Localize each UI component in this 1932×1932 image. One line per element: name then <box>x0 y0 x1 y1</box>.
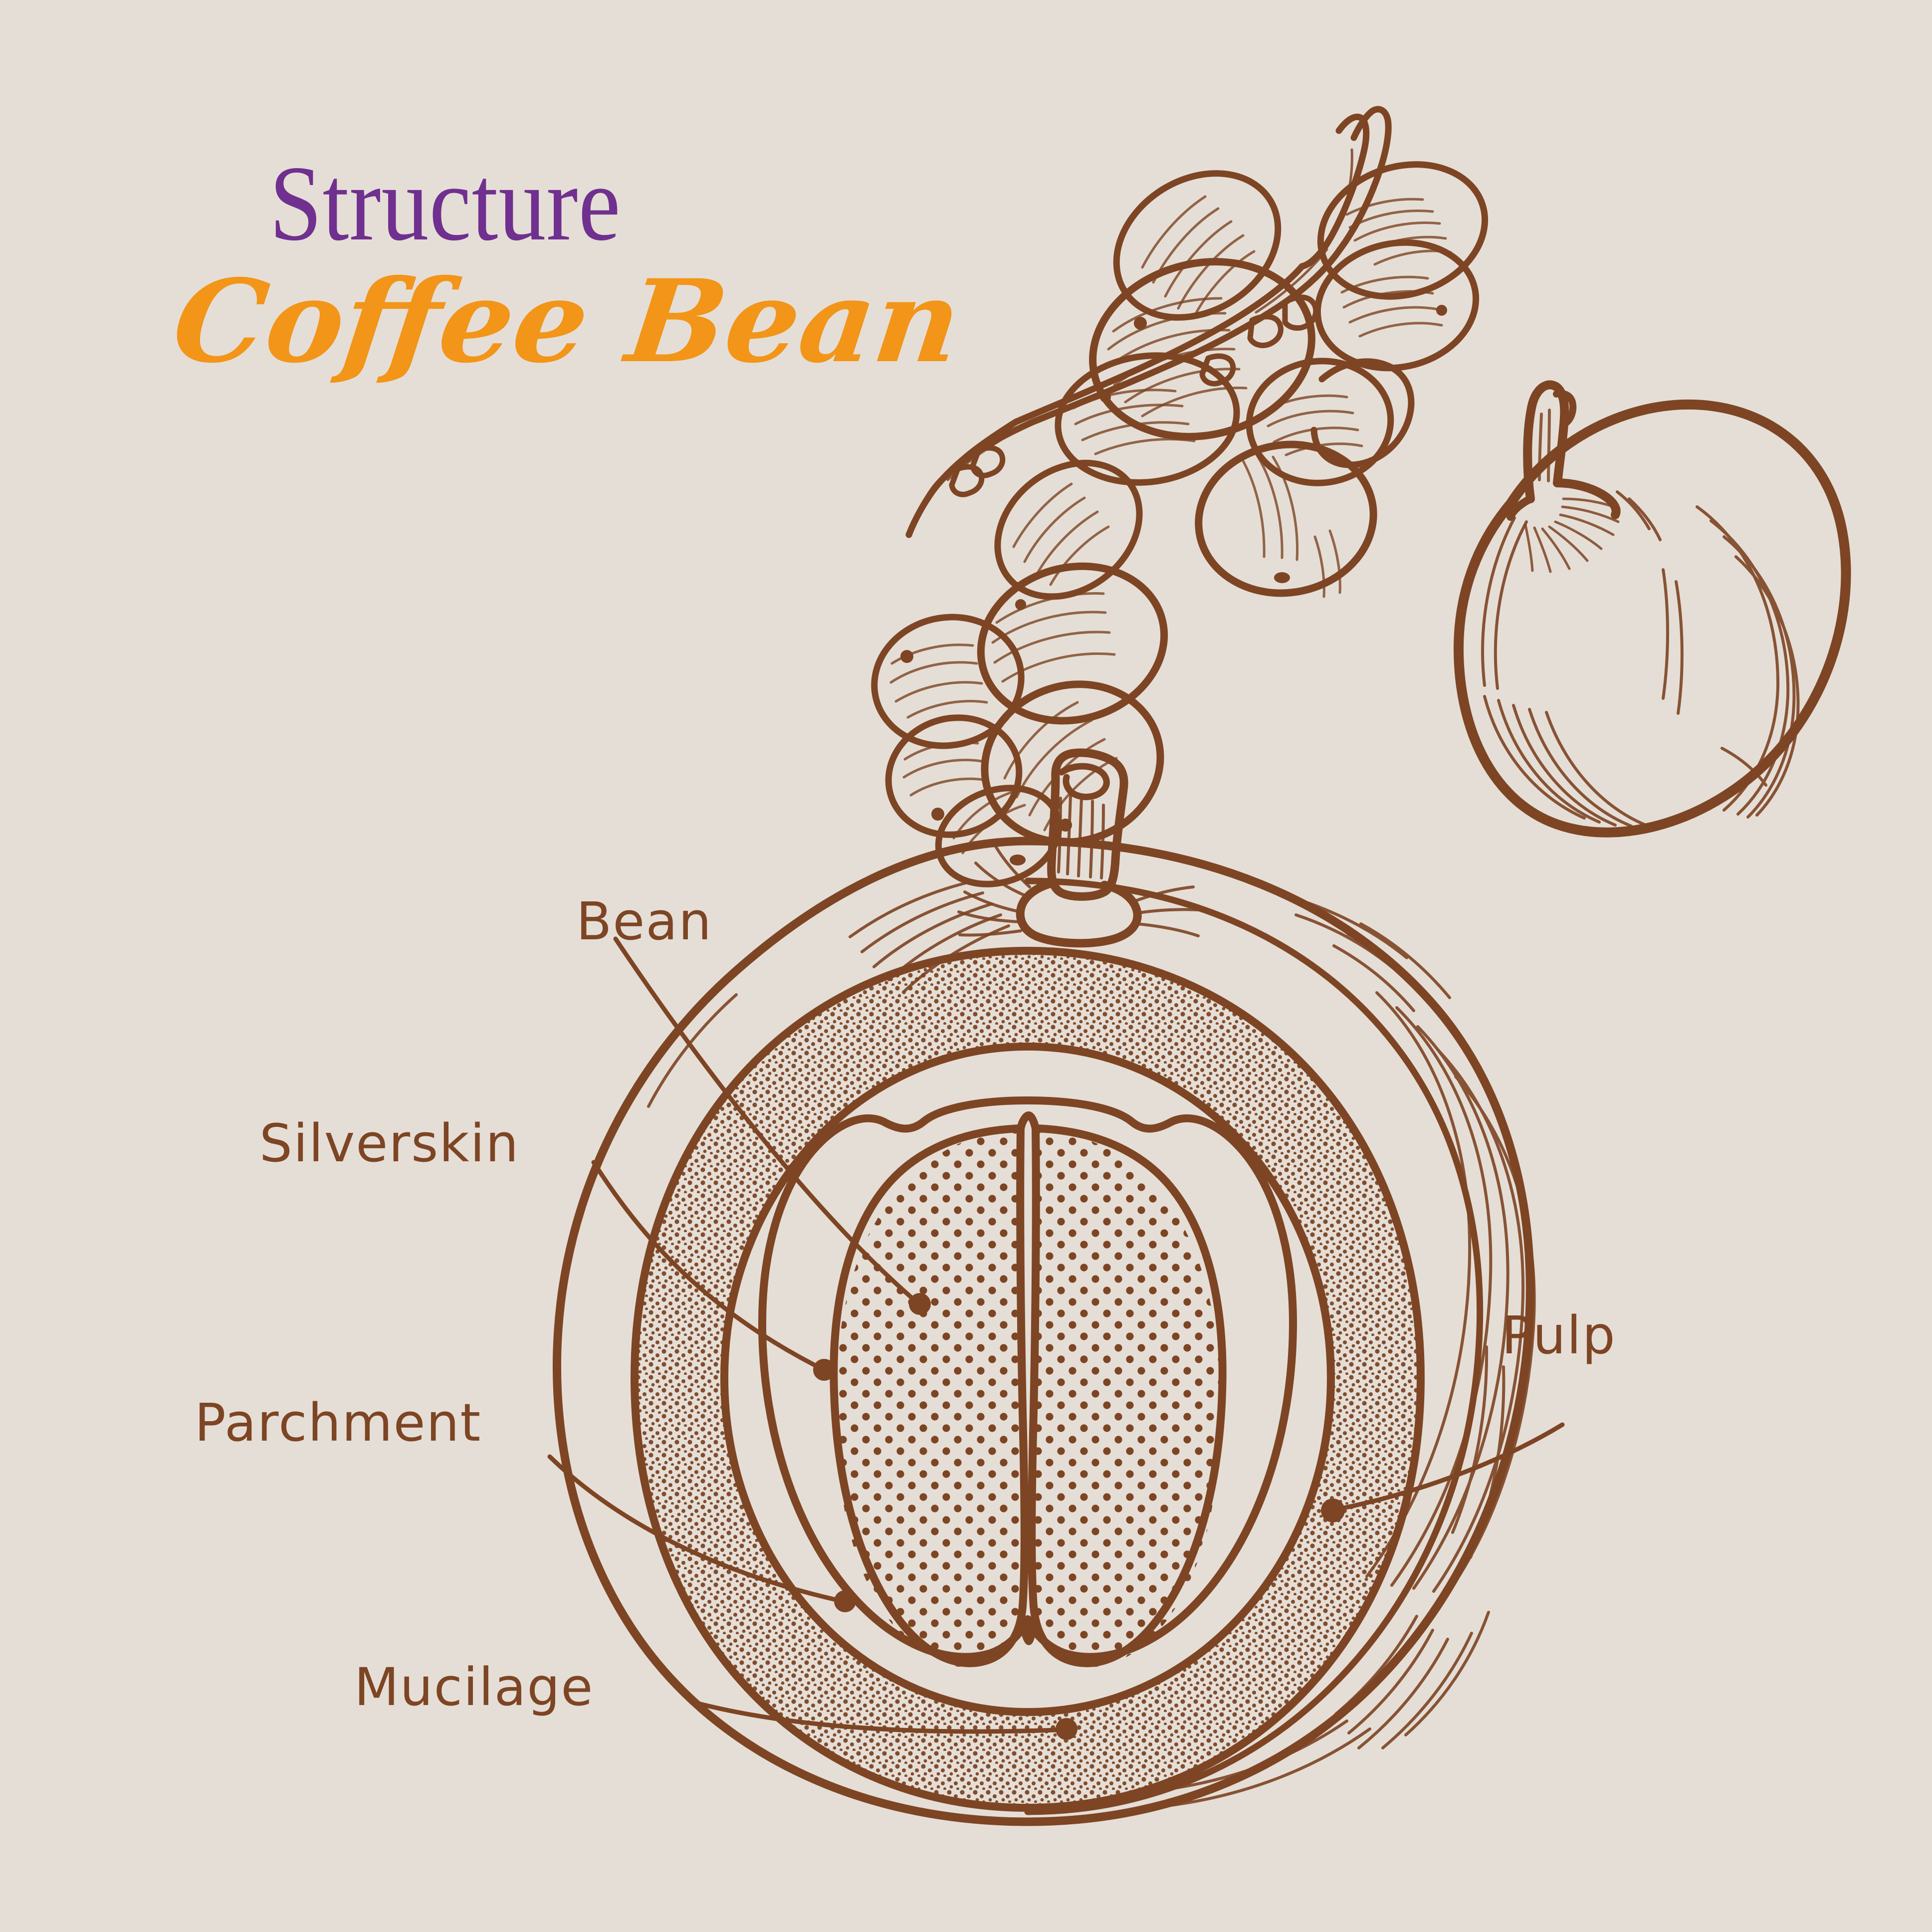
label-pulp: Pulp <box>1502 1309 1616 1361</box>
title-line-coffee-bean: Coffee Bean <box>168 264 1092 378</box>
poster-title: Structure Coffee Bean <box>269 150 1068 378</box>
label-silverskin: Silverskin <box>259 1117 519 1169</box>
label-mucilage: Mucilage <box>354 1661 594 1713</box>
label-bean: Bean <box>576 895 712 947</box>
leader-dot-parchment <box>834 1590 856 1612</box>
leader-dot-silverskin <box>813 1359 835 1381</box>
poster-canvas: Structure Coffee Bean Bean Silverskin Pa… <box>0 0 1932 1932</box>
leader-dot-mucilage <box>1056 1718 1077 1740</box>
title-line-structure: Structure <box>269 150 972 257</box>
leader-dot-pulp <box>1321 1499 1345 1522</box>
label-parchment: Parchment <box>195 1397 481 1449</box>
leader-dot-bean <box>909 1293 931 1315</box>
